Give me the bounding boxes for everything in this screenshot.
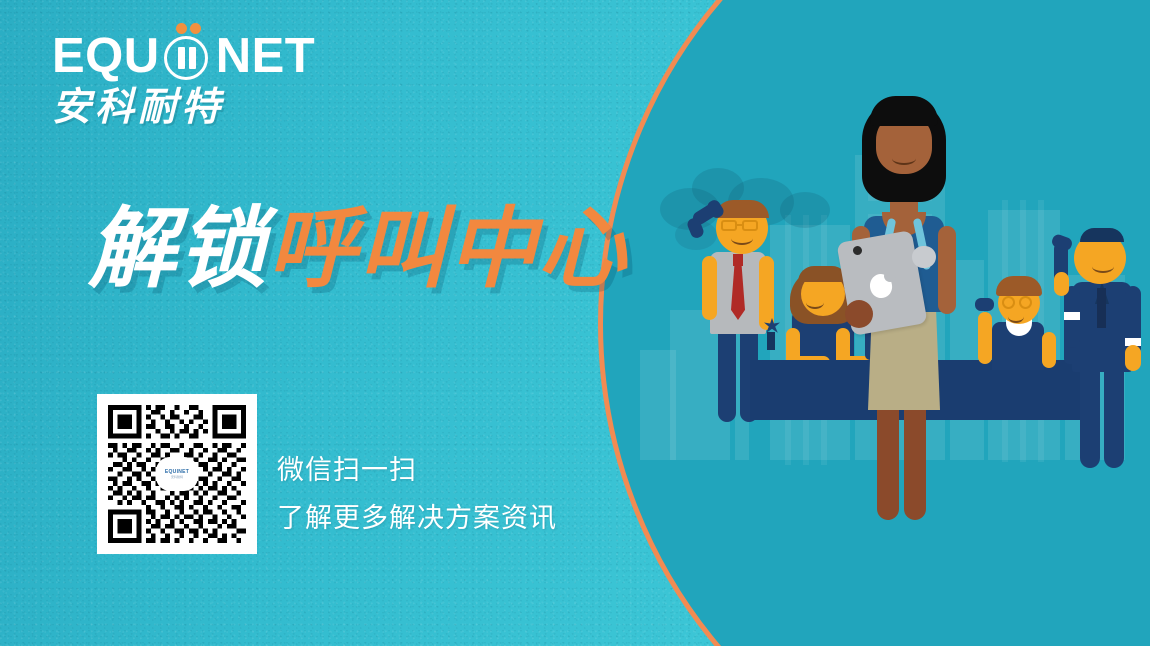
poster-canvas: EQUNET 安科耐特 解锁呼叫中心 (0, 0, 1150, 646)
qr-caption-line1: 微信扫一扫 (277, 446, 557, 494)
smiley-uu-icon (160, 30, 216, 82)
logo-wordmark: EQUNET (52, 30, 362, 82)
qr-caption-line2: 了解更多解决方案资讯 (277, 494, 557, 542)
page-title: 解锁呼叫中心 (88, 196, 628, 302)
qr-center-logo-cn: 安科耐特 (171, 475, 183, 479)
qr-center-logo: EQUINET 安科耐特 (156, 457, 198, 491)
logo-word-part2: NET (216, 30, 316, 82)
logo-word-part1: EQU (52, 30, 160, 82)
brand-logo[interactable]: EQUNET 安科耐特 (52, 30, 362, 130)
headline-part-white: 解锁 (88, 199, 268, 298)
logo-chinese-name: 安科耐特 (52, 86, 362, 130)
qr-code[interactable]: EQUINET 安科耐特 (97, 394, 257, 554)
qr-caption: 微信扫一扫 了解更多解决方案资讯 (277, 446, 557, 542)
cloud-shape (780, 192, 830, 228)
headline-part-orange: 呼叫中心 (268, 199, 628, 298)
call-center-illustration (640, 60, 1150, 530)
